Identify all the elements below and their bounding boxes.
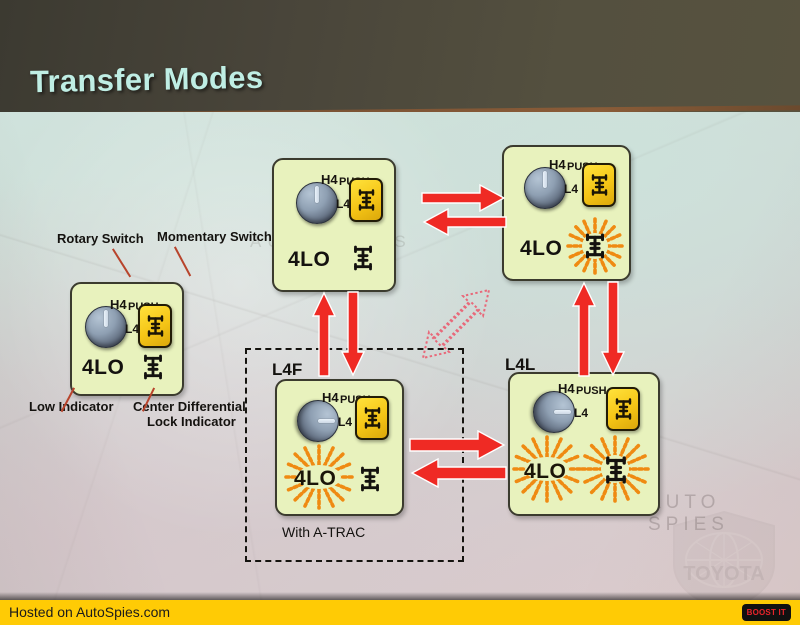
footer-hosted-text: Hosted on AutoSpies.com xyxy=(9,604,170,620)
knob-pointer-icon xyxy=(315,186,319,203)
h4f-low-indicator: 4LO xyxy=(288,248,330,272)
h4f-knob-label-h4: H4 xyxy=(321,172,338,187)
footer-bar: Hosted on AutoSpies.com BOOST IT xyxy=(0,600,800,625)
l4l-rotary-switch-knob[interactable] xyxy=(533,391,575,433)
h4l-momentary-switch-button[interactable] xyxy=(582,163,616,207)
l4f-low-indicator: 4LO xyxy=(294,467,336,491)
callout-line-momentary xyxy=(174,246,191,276)
atrac-label: With A-TRAC xyxy=(282,524,365,540)
h4f-knob-label-l4: L4 xyxy=(336,197,350,211)
center-diff-lock-indicator-icon xyxy=(584,233,606,259)
arrow-h4f-to-l4f xyxy=(341,290,365,378)
h4l-rotary-switch-knob[interactable] xyxy=(524,167,566,209)
center-diff-lock-indicator-icon xyxy=(359,466,381,492)
arrow-l4l-to-h4l xyxy=(572,280,596,378)
h4f-momentary-switch-button[interactable] xyxy=(349,178,383,222)
legend-panel: H4 PUSH L4 xyxy=(70,282,184,396)
arrow-dotted-h4l-to-l4f xyxy=(413,300,509,410)
callout-center-diff-line1: Center Differential xyxy=(133,400,246,415)
center-diff-lock-glyph-icon xyxy=(363,407,382,429)
h4l-center-diff-lock-indicator xyxy=(584,233,606,264)
l4l-low-indicator: 4LO xyxy=(524,460,566,484)
boost-it-button[interactable]: BOOST IT xyxy=(742,604,791,621)
center-diff-lock-glyph-icon xyxy=(614,398,633,420)
knob-pointer-icon xyxy=(554,410,571,414)
l4l-knob-label-push: PUSH xyxy=(576,385,607,397)
arrow-h4l-to-l4l xyxy=(601,280,625,378)
knob-pointer-icon xyxy=(543,171,547,188)
h4f-center-diff-lock-indicator xyxy=(352,245,374,276)
l4f-knob-label-h4: H4 xyxy=(322,390,339,405)
panel-label-l4f: L4F xyxy=(272,360,302,380)
svg-text:TOYOTA: TOYOTA xyxy=(683,563,764,585)
screenshot-root: Transfer Modes AUTO SPIES AUTO SPIES TOY… xyxy=(0,0,800,625)
legend-low-indicator: 4LO xyxy=(82,356,124,380)
center-diff-lock-glyph-icon xyxy=(146,315,165,337)
panel-h4f: H4 PUSH L4 4LO xyxy=(272,158,396,292)
l4f-center-diff-lock-indicator xyxy=(359,466,381,497)
callout-momentary-switch: Momentary Switch xyxy=(157,230,272,245)
callout-low-indicator: Low Indicator xyxy=(29,400,114,415)
l4f-rotary-switch-knob[interactable] xyxy=(297,400,339,442)
center-diff-lock-indicator-icon xyxy=(142,354,164,380)
l4l-momentary-switch-button[interactable] xyxy=(606,387,640,431)
panel-l4l: H4 PUSH L4 xyxy=(508,372,660,516)
legend-knob-label-h4: H4 xyxy=(110,297,127,312)
knob-pointer-icon xyxy=(104,310,108,327)
page-title: Transfer Modes xyxy=(30,60,264,100)
arrow-h4l-to-h4f xyxy=(420,208,508,248)
arrow-l4f-to-h4f xyxy=(312,290,336,378)
arrow-l4f-to-l4l xyxy=(408,430,508,460)
watermark-auto-spies-corner: AUTO SPIES xyxy=(648,492,800,536)
slide-header-band: Transfer Modes xyxy=(0,0,800,118)
arrow-l4l-to-l4f xyxy=(408,458,508,488)
l4l-center-diff-lock-indicator xyxy=(604,456,628,489)
l4l-knob-label-l4: L4 xyxy=(574,406,588,420)
center-diff-lock-indicator-icon xyxy=(352,245,374,271)
h4l-knob-label-l4: L4 xyxy=(564,182,578,196)
callout-center-diff-line2: Lock Indicator xyxy=(147,415,236,430)
legend-center-diff-lock-indicator xyxy=(142,354,164,385)
panel-h4l: H4 PUSH L4 4LO xyxy=(502,145,631,281)
knob-pointer-icon xyxy=(318,419,335,423)
slide-body: AUTO SPIES AUTO SPIES TOYOTA H4 PUSH L4 xyxy=(0,112,800,600)
legend-momentary-switch-button[interactable] xyxy=(138,304,172,348)
center-diff-lock-glyph-icon xyxy=(357,189,376,211)
panel-l4f: H4 PUSH L4 xyxy=(275,379,404,516)
l4l-knob-label-h4: H4 xyxy=(558,381,575,396)
legend-knob-label-l4: L4 xyxy=(125,322,139,336)
footer-shadow xyxy=(0,592,800,600)
callout-rotary-switch: Rotary Switch xyxy=(57,232,144,247)
l4f-momentary-switch-button[interactable] xyxy=(355,396,389,440)
l4f-knob-label-l4: L4 xyxy=(338,415,352,429)
boost-it-label: BOOST IT xyxy=(747,608,786,617)
h4l-low-indicator: 4LO xyxy=(520,237,562,261)
center-diff-lock-glyph-icon xyxy=(590,174,609,196)
callout-line-rotary xyxy=(112,248,131,277)
center-diff-lock-indicator-icon xyxy=(604,456,628,484)
legend-rotary-switch-knob[interactable] xyxy=(85,306,127,348)
h4l-knob-label-h4: H4 xyxy=(549,157,566,172)
h4f-rotary-switch-knob[interactable] xyxy=(296,182,338,224)
